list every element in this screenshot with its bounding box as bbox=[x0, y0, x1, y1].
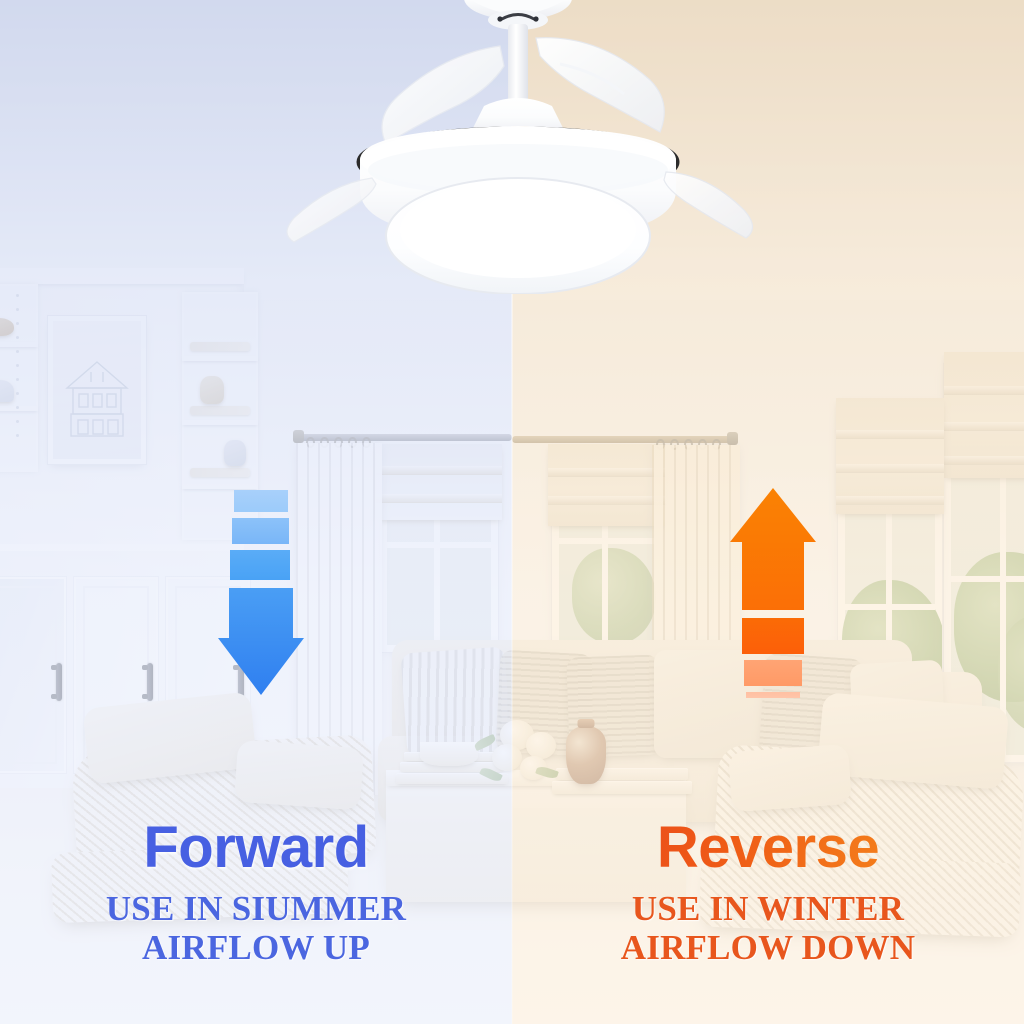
ceiling-fan bbox=[268, 0, 768, 294]
arrow-segment bbox=[234, 490, 288, 512]
caption-reverse: Reverse USE IN WINTER AIRFLOW DOWN bbox=[544, 818, 992, 968]
subtext-forward: USE IN SIUMMER AIRFLOW UP bbox=[32, 889, 480, 967]
subtext-forward-line2: AIRFLOW UP bbox=[32, 928, 480, 967]
subtext-reverse: USE IN WINTER AIRFLOW DOWN bbox=[544, 889, 992, 967]
subtext-forward-line1: USE IN SIUMMER bbox=[32, 889, 480, 928]
arrow-segment bbox=[742, 618, 804, 654]
subtext-reverse-line1: USE IN WINTER bbox=[544, 889, 992, 928]
caption-forward: Forward USE IN SIUMMER AIRFLOW UP bbox=[32, 818, 480, 968]
fan-blade-front-left bbox=[287, 178, 376, 242]
fan-blade-front-right bbox=[664, 172, 753, 238]
subtext-reverse-line2: AIRFLOW DOWN bbox=[544, 928, 992, 967]
infographic-canvas: Forward USE IN SIUMMER AIRFLOW UP Revers… bbox=[0, 0, 1024, 1024]
airflow-arrow-down bbox=[218, 490, 304, 695]
arrow-shaft-head bbox=[218, 588, 304, 695]
heading-reverse: Reverse bbox=[544, 818, 992, 877]
arrow-shaft-head bbox=[730, 488, 816, 610]
arrow-segment bbox=[746, 692, 800, 698]
airflow-arrow-up bbox=[730, 488, 816, 698]
fan-downrod bbox=[508, 24, 528, 108]
heading-forward: Forward bbox=[32, 818, 480, 877]
arrow-segment bbox=[232, 518, 289, 544]
arrow-segment bbox=[230, 550, 290, 580]
arrow-segment bbox=[744, 660, 802, 686]
